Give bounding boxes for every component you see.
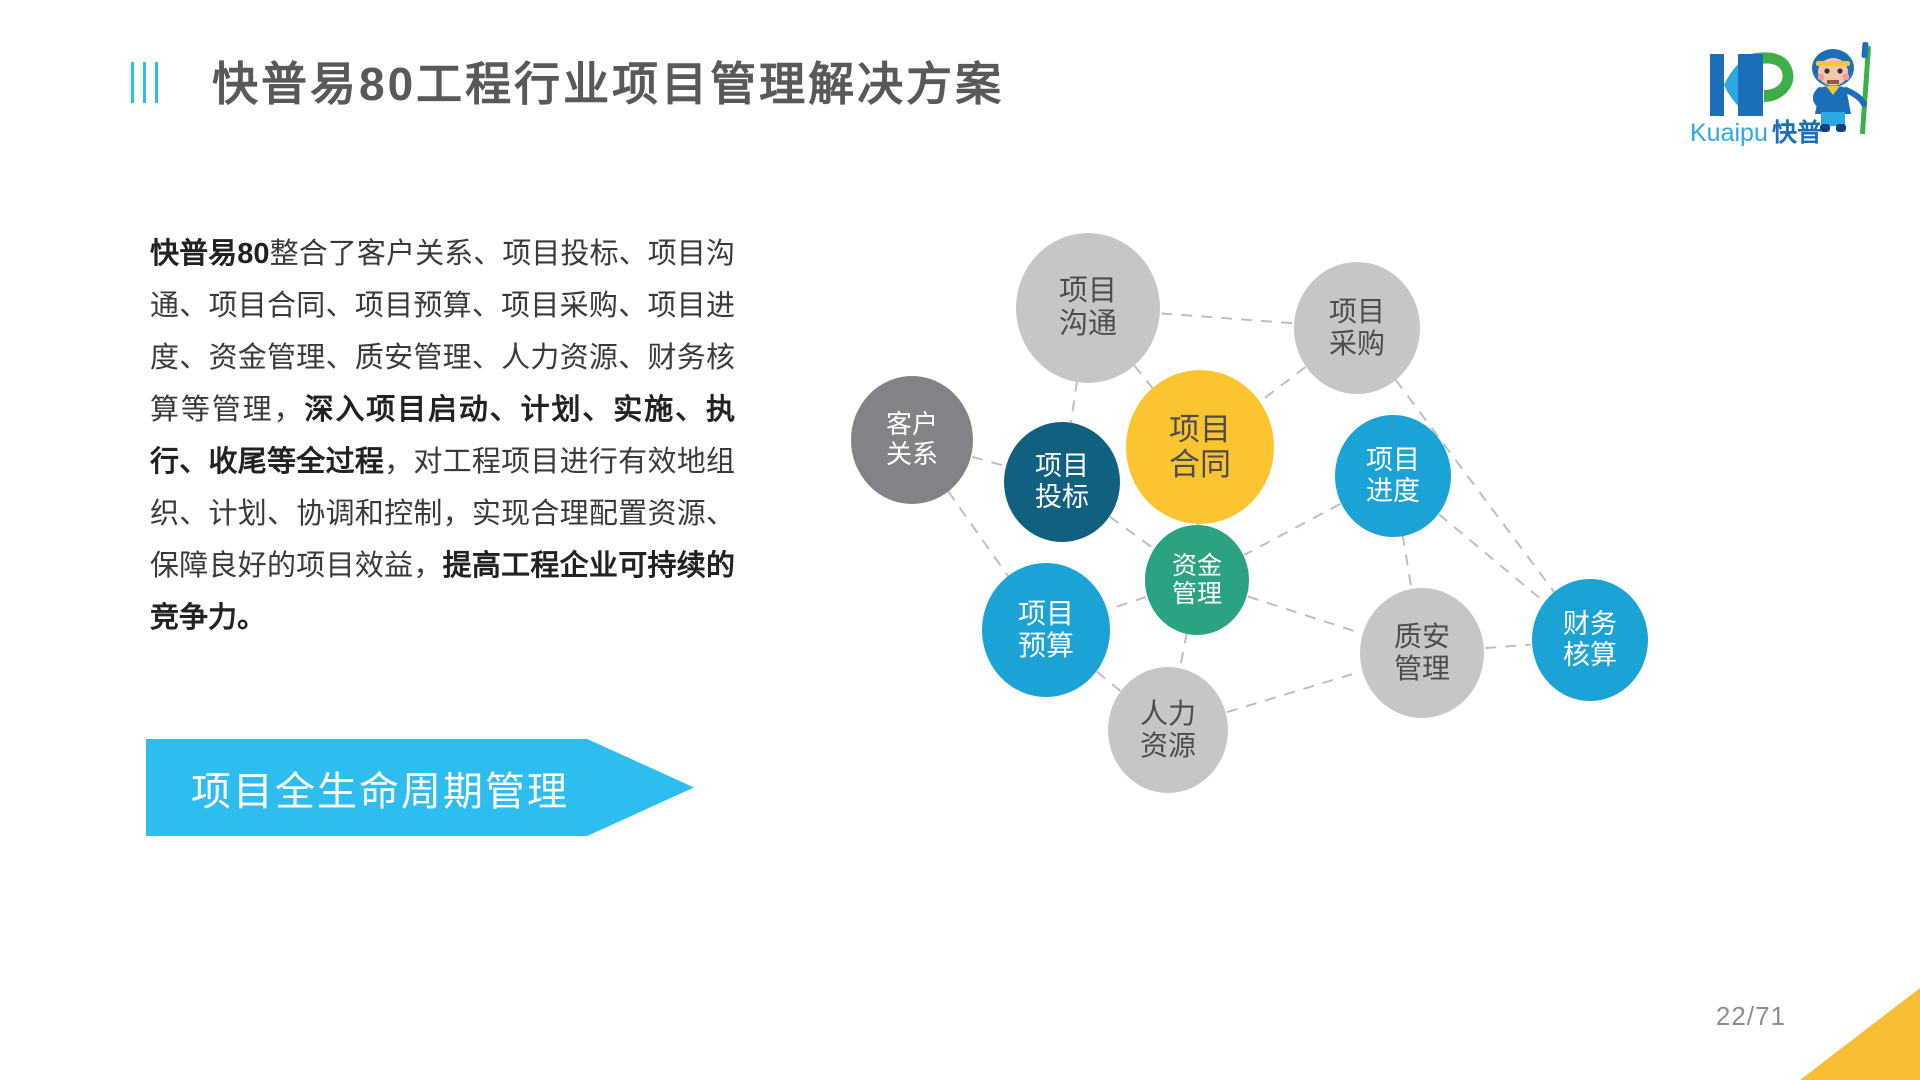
diagram-edge <box>1108 597 1146 610</box>
diagram-node-he_tong[interactable]: 项目 合同 <box>1126 370 1274 524</box>
diagram-edge <box>972 457 1005 466</box>
body-paragraph: 快普易80整合了客户关系、项目投标、项目沟通、项目合同、项目预算、项目采购、项目… <box>150 228 735 644</box>
diagram-node-cai_gou[interactable]: 项目 采购 <box>1294 262 1420 394</box>
diagram-node-gou_tong[interactable]: 项目 沟通 <box>1016 233 1160 383</box>
diagram-edge <box>1161 313 1292 323</box>
diagram-node-label: 项目 沟通 <box>1059 275 1117 341</box>
title-accent-bars-icon <box>131 62 158 103</box>
diagram-edge <box>1403 535 1412 591</box>
diagram-node-label: 项目 投标 <box>1035 451 1089 513</box>
diagram-node-label: 项目 合同 <box>1169 412 1231 483</box>
bottom-right-corner-decoration <box>1800 988 1920 1080</box>
slide-canvas: 快普易80工程行业项目管理解决方案 Kuaipu 快普 ® <box>0 0 1920 1080</box>
page-number: 22/71 <box>1716 1001 1786 1032</box>
lifecycle-banner-label: 项目全生命周期管理 <box>146 759 694 817</box>
diagram-node-label: 项目 进度 <box>1366 445 1420 507</box>
body-segment-0: 快普易80 <box>150 238 270 270</box>
diagram-node-label: 项目 预算 <box>1018 598 1074 662</box>
diagram-node-ren_li[interactable]: 人力 资源 <box>1108 667 1228 793</box>
diagram-edge <box>1097 672 1121 691</box>
svg-text:Kuaipu: Kuaipu <box>1690 119 1768 147</box>
module-network-diagram: 项目 沟通项目 采购客户 关系项目 投标项目 合同项目 进度资金 管理项目 预算… <box>820 175 1895 915</box>
accent-bar-1 <box>131 62 134 103</box>
diagram-edge <box>1071 381 1077 424</box>
accent-bar-2 <box>143 62 146 103</box>
diagram-node-label: 项目 采购 <box>1329 296 1385 360</box>
diagram-node-label: 客户 关系 <box>886 410 938 469</box>
diagram-edge <box>1227 671 1361 712</box>
diagram-edge <box>1248 597 1362 634</box>
diagram-node-label: 资金 管理 <box>1172 552 1222 609</box>
page-title: 快普易80工程行业项目管理解决方案 <box>212 48 1004 114</box>
diagram-node-zi_jin[interactable]: 资金 管理 <box>1145 525 1249 635</box>
diagram-edge <box>1260 367 1305 401</box>
accent-bar-3 <box>155 62 158 103</box>
svg-text:快普: 快普 <box>1772 118 1822 147</box>
kuaipu-logo: Kuaipu 快普 ® <box>1690 28 1880 150</box>
diagram-node-yu_suan[interactable]: 项目 预算 <box>982 563 1110 697</box>
diagram-node-label: 质安 管理 <box>1394 621 1450 685</box>
diagram-edge <box>1110 517 1154 549</box>
lifecycle-banner: 项目全生命周期管理 <box>146 739 694 836</box>
diagram-edge <box>1244 504 1340 555</box>
diagram-node-tou_biao[interactable]: 项目 投标 <box>1004 422 1120 542</box>
diagram-node-jin_du[interactable]: 项目 进度 <box>1335 415 1451 537</box>
diagram-node-zhi_an[interactable]: 质安 管理 <box>1360 588 1484 718</box>
diagram-edge <box>1485 645 1530 649</box>
diagram-edge <box>1134 365 1153 388</box>
diagram-node-cai_wu[interactable]: 财务 核算 <box>1532 579 1648 701</box>
diagram-edge <box>948 491 1008 576</box>
diagram-node-label: 财务 核算 <box>1563 609 1617 671</box>
diagram-node-label: 人力 资源 <box>1140 698 1196 762</box>
diagram-node-ke_hu[interactable]: 客户 关系 <box>851 376 973 504</box>
diagram-edge <box>1180 633 1187 670</box>
